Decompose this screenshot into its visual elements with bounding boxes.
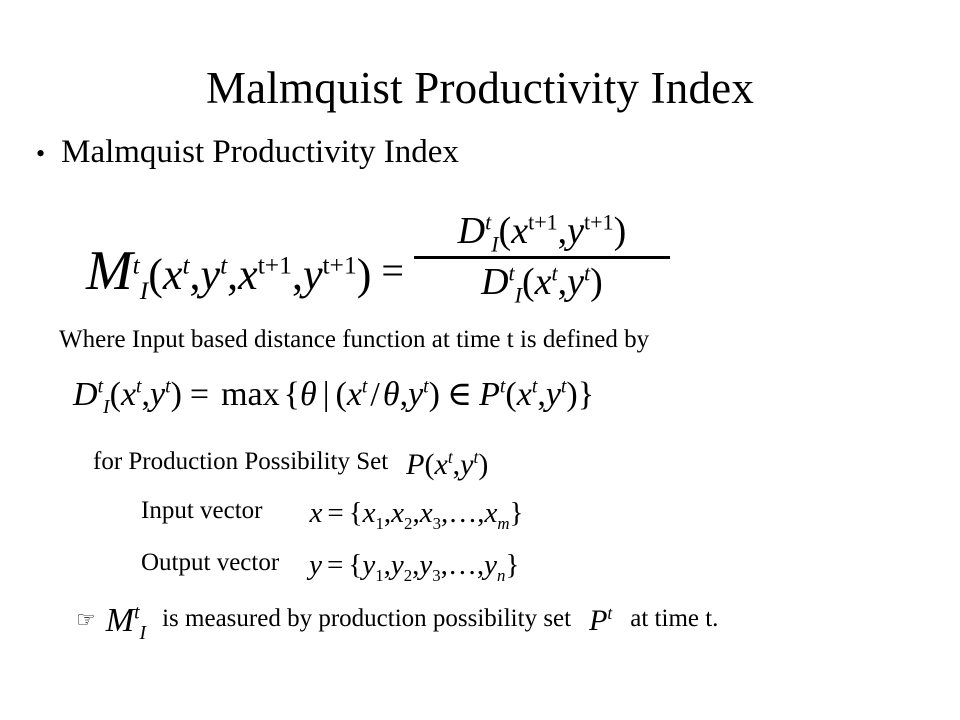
divide-sign: / [367,376,382,413]
brace-open: { [348,549,362,581]
num-arg1-base: x [511,210,528,252]
paren-open: ( [148,250,163,299]
inner-paren-open: ( [336,376,347,413]
vector-item-last: x [484,497,497,529]
arg1-sup: t [182,251,189,280]
max-operator: max [217,376,284,413]
output-vector-expression: y={y1,y2,y3,…,yn} [309,549,519,582]
pps-label: for Production Possibility Set [93,446,388,478]
equals-sign: = [182,376,217,413]
paren-open: ( [499,210,512,252]
main-equation: MtI(xt,yt,xt+1,yt+1) = DtI(xt+1,yt+1) Dt… [86,212,670,303]
num-comma: , [558,210,568,252]
d-superscript: t [98,376,103,398]
den-comma: , [558,261,568,303]
paren-close: ) [357,250,372,299]
output-vector-label: Output vector [141,547,279,579]
fraction-denominator: DtI(xt,yt) [473,259,611,303]
brace-open: { [284,376,300,413]
vector-item-3-sub: 3 [432,566,440,585]
comma-2: , [227,250,238,299]
comma-3: , [292,250,303,299]
vector-item-1-sub: 1 [376,514,384,533]
vector-item-3-sub: 3 [433,514,441,533]
vector-ellipsis: ,…, [441,549,485,581]
such-that-bar: | [317,376,336,413]
fraction: DtI(xt+1,yt+1) DtI(xt,yt) [414,212,670,303]
inner-x: x [347,376,362,413]
p-symbol: P [589,604,607,637]
arg3-sup: t+1 [258,251,292,280]
slide-canvas: Malmquist Productivity Index • Malmquist… [0,0,960,720]
comma-1: , [190,250,201,299]
p-symbol: P [406,448,424,481]
p-symbol: P [479,376,500,413]
num-arg2-sup: t+1 [584,209,614,234]
paren-close: ) [478,448,488,481]
note-text-middle: is measured by production possibility se… [162,603,571,635]
equals-sign: = [371,251,414,291]
pointing-hand-icon: ☞ [76,605,96,635]
brace-close: } [510,497,524,529]
vector-item-last-sub: m [497,514,509,533]
vector-item-2: x [391,497,404,529]
paren-close: ) [590,261,603,303]
paren-open: ( [110,376,121,413]
bullet-list-item: • Malmquist Productivity Index [36,132,459,174]
brace-close: } [505,549,519,581]
page-title: Malmquist Productivity Index [0,62,960,114]
arg4-base: y [303,250,323,299]
m-subscript: I [140,622,147,644]
lhs-arg2-base: y [150,376,165,413]
num-arg1-sup: t+1 [528,209,558,234]
vector-item-last: y [484,549,497,581]
vector-item-2-sub: 2 [404,566,412,585]
inner-paren-close: ) [429,376,440,413]
d-symbol: D [481,261,508,303]
bullet-text: Malmquist Productivity Index [61,132,459,172]
paren-close: ) [171,376,182,413]
m-symbol: M [86,240,133,302]
vector-var: y [309,549,322,581]
note-m-expression: MtI [106,602,146,640]
equals-sign: = [322,497,348,529]
den-arg2-base: y [567,261,584,303]
output-vector-line: Output vector y={y1,y2,y3,…,yn} [141,546,519,579]
set-paren-close: ) [566,376,577,413]
equals-sign: = [322,549,348,581]
vector-item-2: y [391,549,404,581]
m-superscript: t [133,251,140,280]
arg4-sup: t+1 [322,251,356,280]
pps-arg2-base: y [460,448,473,481]
where-description-text: Where Input based distance function at t… [59,324,649,356]
main-equation-lhs: MtI(xt,yt,xt+1,yt+1) [86,243,371,299]
pps-expression: P(xt,yt) [406,448,488,482]
theta-symbol: θ [300,376,317,413]
m-superscript: t [134,602,139,624]
m-subscript: I [140,276,149,305]
note-p-expression: Pt [589,604,612,638]
d-superscript: t [485,209,491,234]
vector-item-1: x [363,497,376,529]
production-possibility-set-line: for Production Possibility Set P(xt,yt) [93,445,488,479]
set-comma: , [537,376,546,413]
lhs-comma: , [142,376,151,413]
input-vector-label: Input vector [141,495,262,527]
distance-function-equation: DtI(xt,yt)=max{θ|(xt/θ,yt)∈Pt(xt,yt)} [73,376,594,413]
set-arg1: x [517,376,532,413]
arg1-base: x [163,250,183,299]
d-symbol: D [458,210,485,252]
note-text-end: at time t. [630,603,718,635]
set-paren-open: ( [505,376,516,413]
vector-var: x [309,497,322,529]
vector-ellipsis: ,…, [441,497,485,529]
den-arg1-base: x [535,261,552,303]
d-superscript: t [509,260,515,285]
comma-2: , [412,497,419,529]
arg2-base: y [201,250,221,299]
closing-note-line: ☞ MtI is measured by production possibil… [76,600,718,638]
d-subscript: I [515,282,522,307]
vector-item-3: y [419,549,432,581]
pps-arg1-base: x [434,448,447,481]
lhs-arg1-base: x [121,376,136,413]
vector-item-1: y [362,549,375,581]
paren-open: ( [424,448,434,481]
paren-close: ) [614,210,627,252]
inner-y: y [408,376,423,413]
input-vector-expression: x={x1,x2,x3,…,xm} [309,497,523,530]
d-subscript: I [491,232,498,257]
paren-open: ( [522,261,535,303]
vector-item-1-sub: 1 [375,566,383,585]
element-of-sign: ∈ [440,376,479,413]
inner-comma: , [400,376,409,413]
brace-open: { [349,497,363,529]
fraction-numerator: DtI(xt+1,yt+1) [450,212,635,256]
inner-theta: θ [383,376,400,413]
input-vector-line: Input vector x={x1,x2,x3,…,xm} [141,494,523,527]
arg3-base: x [238,250,258,299]
brace-close: } [578,376,594,413]
m-symbol: M [106,602,134,639]
bullet-marker-icon: • [36,134,45,174]
num-arg2-base: y [567,210,584,252]
p-superscript: t [607,603,612,623]
d-symbol: D [73,376,98,413]
set-arg2: y [546,376,561,413]
vector-item-3: x [420,497,433,529]
comma-1: , [384,549,391,581]
